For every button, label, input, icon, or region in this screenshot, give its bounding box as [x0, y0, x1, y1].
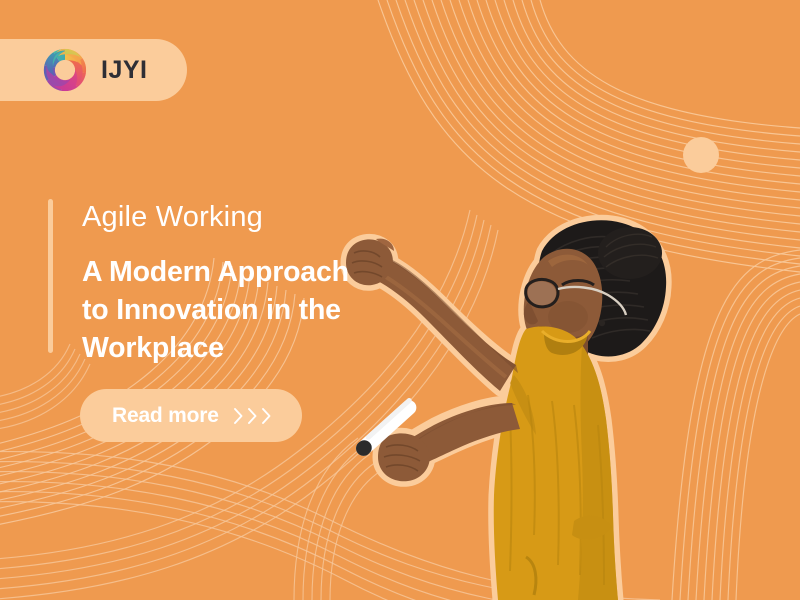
- copy-block: Agile Working A Modern Approach to Innov…: [48, 199, 367, 368]
- read-more-button[interactable]: Read more: [80, 389, 302, 442]
- chevron-right-triple-icon: [233, 406, 272, 426]
- accent-rule: [48, 199, 53, 353]
- eyebrow-text: Agile Working: [82, 203, 367, 232]
- hero-photo: [330, 205, 740, 600]
- ijyi-swirl-ring-logo-icon: [42, 47, 88, 93]
- logo-pill[interactable]: IJYI: [0, 39, 187, 101]
- logo-wordmark: IJYI: [101, 58, 147, 83]
- copy-text: Agile Working A Modern Approach to Innov…: [82, 199, 367, 368]
- promo-banner: IJYI Agile Working A Modern Approach to …: [0, 0, 800, 600]
- read-more-label: Read more: [112, 405, 219, 426]
- page-title: A Modern Approach to Innovation in the W…: [82, 254, 367, 368]
